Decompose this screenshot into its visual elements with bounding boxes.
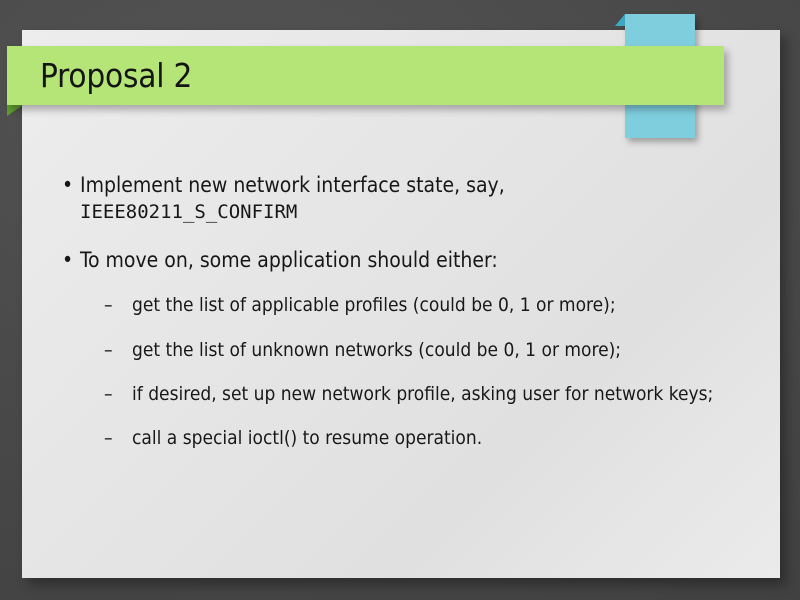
bullet-marker-dash: –	[104, 425, 113, 451]
sub-bullet-item: – get the list of applicable profiles (c…	[58, 292, 784, 318]
bullet-marker-dot: •	[62, 172, 73, 199]
bullet-marker-dot: •	[62, 247, 73, 274]
green-ribbon-fold-icon	[7, 105, 23, 116]
bullet-code-text: IEEE80211_S_CONFIRM	[80, 200, 784, 225]
sub-bullet-text: call a special ioctl() to resume operati…	[132, 427, 482, 449]
slide-title: Proposal 2	[40, 59, 192, 92]
bullet-marker-dash: –	[104, 292, 113, 318]
sub-bullet-item: – if desired, set up new network profile…	[58, 381, 784, 407]
slide-content-body: • Implement new network interface state,…	[58, 172, 784, 451]
bullet-marker-dash: –	[104, 381, 113, 407]
sub-bullet-text: get the list of applicable profiles (cou…	[132, 294, 616, 316]
sub-bullet-list: – get the list of applicable profiles (c…	[58, 292, 784, 451]
slide-root: • Implement new network interface state,…	[0, 0, 800, 600]
sub-bullet-item: – get the list of unknown networks (coul…	[58, 337, 784, 363]
sub-bullet-text: if desired, set up new network profile, …	[132, 383, 713, 405]
sub-bullet-item: – call a special ioctl() to resume opera…	[58, 425, 784, 451]
bullet-item: • To move on, some application should ei…	[58, 247, 784, 274]
bullet-marker-dash: –	[104, 337, 113, 363]
bullet-text: Implement new network interface state, s…	[80, 173, 505, 197]
bullet-text: To move on, some application should eith…	[80, 248, 498, 272]
bullet-item: • Implement new network interface state,…	[58, 172, 784, 225]
sub-bullet-text: get the list of unknown networks (could …	[132, 339, 621, 361]
blue-accent-fold-icon	[615, 14, 625, 26]
title-ribbon: Proposal 2	[7, 46, 724, 105]
